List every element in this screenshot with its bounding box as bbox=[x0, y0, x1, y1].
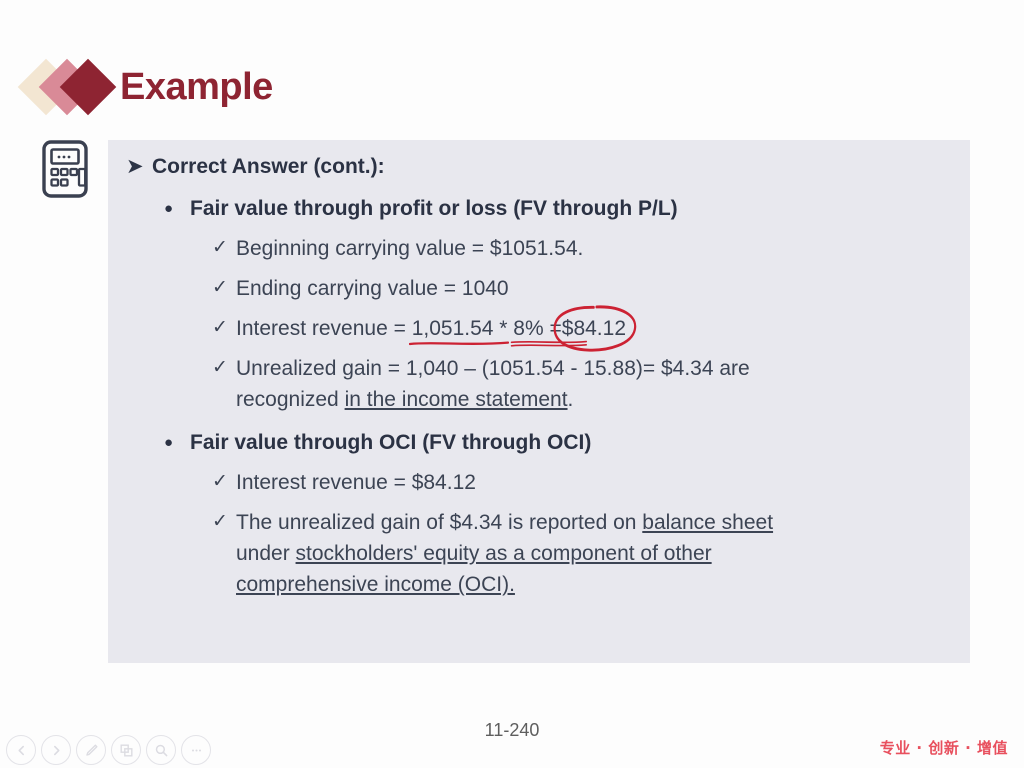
brand-tagline: 专业 · 创新 · 增值 bbox=[880, 737, 1008, 758]
income-statement-underlined: in the income statement bbox=[345, 388, 568, 411]
oci-gain-line2: under stockholders' equity as a componen… bbox=[236, 538, 773, 569]
section-heading-row-fvpl: ● Fair value through profit or loss (FV … bbox=[164, 194, 970, 224]
section-heading-fvpl: Fair value through profit or loss (FV th… bbox=[190, 194, 678, 224]
oci-gain-prefix: The unrealized gain of $4.34 is reported… bbox=[236, 511, 642, 534]
chevron-left-icon bbox=[15, 744, 28, 757]
unrealized-gain-period: . bbox=[568, 388, 574, 411]
ending-carrying-value-text: Ending carrying value = 1040 bbox=[236, 273, 509, 304]
unrealized-gain-line1: Unrealized gain = 1,040 – (1051.54 - 15.… bbox=[236, 353, 750, 384]
comprehensive-income-underlined: comprehensive income (OCI). bbox=[236, 573, 515, 596]
operand-rate-wrap: 8% bbox=[513, 313, 543, 344]
operator-multiply: * bbox=[493, 317, 513, 340]
disc-bullet-icon: ● bbox=[164, 428, 190, 458]
list-item: ✓ Interest revenue = $84.12 bbox=[212, 467, 970, 498]
check-bullet-icon: ✓ bbox=[212, 313, 236, 343]
next-slide-button[interactable] bbox=[41, 735, 71, 765]
oci-unrealized-gain-block: The unrealized gain of $4.34 is reported… bbox=[236, 507, 773, 600]
interest-revenue-result-wrap: $84.12 bbox=[562, 313, 626, 344]
list-item: ✓ Interest revenue = 1,051.54 * 8% =$84.… bbox=[212, 313, 970, 344]
pen-icon bbox=[84, 743, 99, 758]
oci-gain-line3: comprehensive income (OCI). bbox=[236, 569, 773, 600]
list-item: ✓ Unrealized gain = 1,040 – (1051.54 - 1… bbox=[212, 353, 970, 415]
section-heading-row-fvoci: ● Fair value through OCI (FV through OCI… bbox=[164, 428, 970, 458]
more-options-button[interactable] bbox=[181, 735, 211, 765]
under-prefix: under bbox=[236, 542, 296, 565]
check-bullet-icon: ✓ bbox=[212, 233, 236, 263]
operand-principal: 1,051.54 bbox=[412, 317, 494, 340]
unrealized-gain-block: Unrealized gain = 1,040 – (1051.54 - 15.… bbox=[236, 353, 750, 415]
list-item: ✓ The unrealized gain of $4.34 is report… bbox=[212, 507, 970, 600]
slide-title-block: Example bbox=[26, 56, 273, 118]
check-bullet-icon: ✓ bbox=[212, 467, 236, 497]
page-title: Example bbox=[120, 68, 273, 106]
disc-bullet-icon: ● bbox=[164, 194, 190, 224]
list-item: ✓ Beginning carrying value = $1051.54. bbox=[212, 233, 970, 264]
beginning-carrying-value-text: Beginning carrying value = $1051.54. bbox=[236, 233, 583, 264]
ellipsis-icon bbox=[189, 743, 204, 758]
unrealized-gain-line2: recognized in the income statement. bbox=[236, 384, 750, 415]
operand-rate: 8% bbox=[513, 317, 543, 340]
red-underline-single-icon bbox=[409, 340, 509, 347]
oci-interest-revenue-text: Interest revenue = $84.12 bbox=[236, 467, 476, 498]
diamond-logo bbox=[26, 58, 118, 116]
check-bullet-icon: ✓ bbox=[212, 273, 236, 303]
recognized-prefix: recognized bbox=[236, 388, 345, 411]
oci-gain-line1: The unrealized gain of $4.34 is reported… bbox=[236, 507, 773, 538]
arrow-bullet-icon: ➤ bbox=[126, 153, 152, 181]
interest-revenue-label: Interest revenue = bbox=[236, 317, 412, 340]
equals-sign: = bbox=[544, 317, 562, 340]
content-heading-row: ➤ Correct Answer (cont.): bbox=[126, 153, 970, 181]
interest-revenue-calculation: Interest revenue = 1,051.54 * 8% =$84.12 bbox=[236, 313, 626, 344]
interest-revenue-result: $84.12 bbox=[562, 317, 626, 340]
previous-slide-button[interactable] bbox=[6, 735, 36, 765]
check-bullet-icon: ✓ bbox=[212, 507, 236, 537]
presentation-toolbar bbox=[6, 735, 211, 765]
slide-overview-button[interactable] bbox=[111, 735, 141, 765]
section-heading-fvoci: Fair value through OCI (FV through OCI) bbox=[190, 428, 591, 458]
stockholders-equity-underlined: stockholders' equity as a component of o… bbox=[296, 542, 712, 565]
content-heading-label: Correct Answer (cont.): bbox=[152, 153, 385, 181]
zoom-button[interactable] bbox=[146, 735, 176, 765]
duplicate-icon bbox=[119, 743, 134, 758]
chevron-right-icon bbox=[50, 744, 63, 757]
magnifier-icon bbox=[154, 743, 169, 758]
pen-tool-button[interactable] bbox=[76, 735, 106, 765]
content-panel: ➤ Correct Answer (cont.): ● Fair value t… bbox=[108, 140, 970, 663]
calculator-icon bbox=[41, 140, 89, 198]
list-item: ✓ Ending carrying value = 1040 bbox=[212, 273, 970, 304]
check-bullet-icon: ✓ bbox=[212, 353, 236, 383]
operand-principal-wrap: 1,051.54 bbox=[412, 313, 494, 344]
balance-sheet-underlined: balance sheet bbox=[642, 511, 773, 534]
